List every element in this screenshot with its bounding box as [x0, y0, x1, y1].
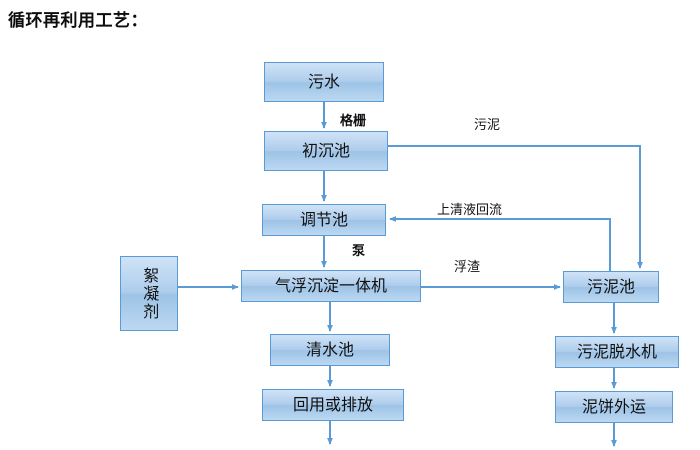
- edge-label-scum: 浮渣: [454, 256, 480, 275]
- node-wastewater[interactable]: 污水: [264, 62, 384, 102]
- edge-label-pump: 泵: [352, 240, 365, 259]
- node-primary-tank[interactable]: 初沉池: [264, 131, 388, 171]
- edge-label-supernatant-reflux: 上清液回流: [437, 199, 502, 218]
- connector-sludge-tank-to-regulating: [390, 219, 610, 271]
- node-sludge-dewatering-machine[interactable]: 污泥脱水机: [555, 336, 679, 368]
- node-mud-cake-transport[interactable]: 泥饼外运: [555, 391, 673, 423]
- node-flotation-unit[interactable]: 气浮沉淀一体机: [241, 270, 421, 302]
- connector-primary-to-sludge-tank: [388, 146, 640, 268]
- edge-label-grating: 格栅: [340, 110, 366, 129]
- node-reuse-or-discharge[interactable]: 回用或排放: [262, 389, 404, 421]
- flowchart-canvas: 循环再利用工艺：: [0, 0, 700, 450]
- node-flocculant[interactable]: 絮凝剂: [120, 256, 178, 331]
- edge-label-sludge: 污泥: [474, 114, 500, 133]
- node-clean-water-tank[interactable]: 清水池: [270, 334, 390, 366]
- node-sludge-tank[interactable]: 污泥池: [563, 271, 659, 303]
- node-regulating-tank[interactable]: 调节池: [262, 204, 386, 236]
- page-title: 循环再利用工艺：: [8, 6, 148, 31]
